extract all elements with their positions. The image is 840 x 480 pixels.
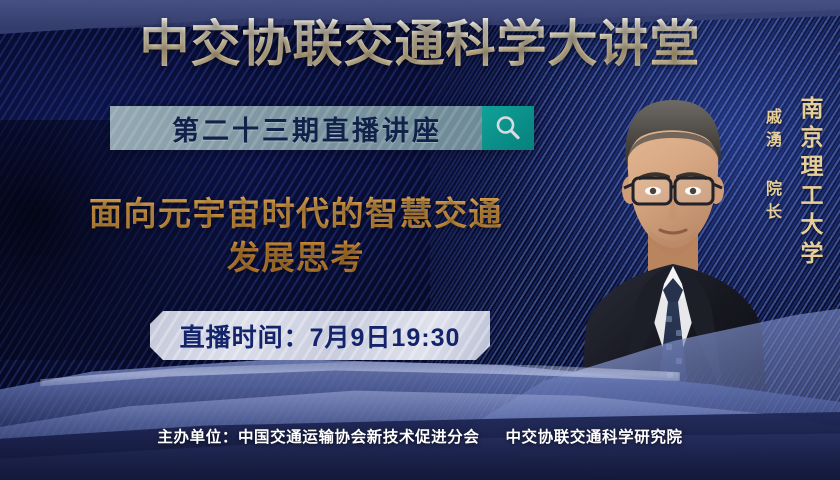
footer-organizers: 主办单位：中国交通运输协会新技术促进分会中交协联交通科学研究院 [0, 425, 840, 447]
footer-org-2: 中交协联交通科学研究院 [505, 428, 682, 446]
footer-org-1: 中国交通运输协会新技术促进分会 [238, 428, 480, 446]
episode-bar: 第二十三期直播讲座 [110, 106, 534, 150]
broadcast-time-banner: 直播时间：7月9日19:30 [150, 311, 490, 360]
lecture-title: 面向元宇宙时代的智慧交通 发展思考 [40, 192, 552, 280]
lecture-title-line1: 面向元宇宙时代的智慧交通 [40, 192, 552, 236]
broadcast-time-label: 直播时间：7月9日19:30 [180, 318, 461, 354]
speaker-name-title: 戚湧 院长 [760, 108, 784, 226]
live-stream-poster: 中交协联交通科学大讲堂 第二十三期直播讲座 面向元宇宙时代的智慧交通 发展思考 … [0, 0, 840, 480]
search-icon-container[interactable] [482, 106, 534, 150]
footer-prefix: 主办单位： [157, 428, 238, 446]
speaker-organization: 南京理工大学 [792, 96, 826, 270]
search-icon [493, 113, 523, 143]
episode-label: 第二十三期直播讲座 [110, 106, 482, 150]
page-title: 中交协联交通科学大讲堂 [0, 18, 840, 71]
lecture-title-line2: 发展思考 [40, 236, 552, 280]
